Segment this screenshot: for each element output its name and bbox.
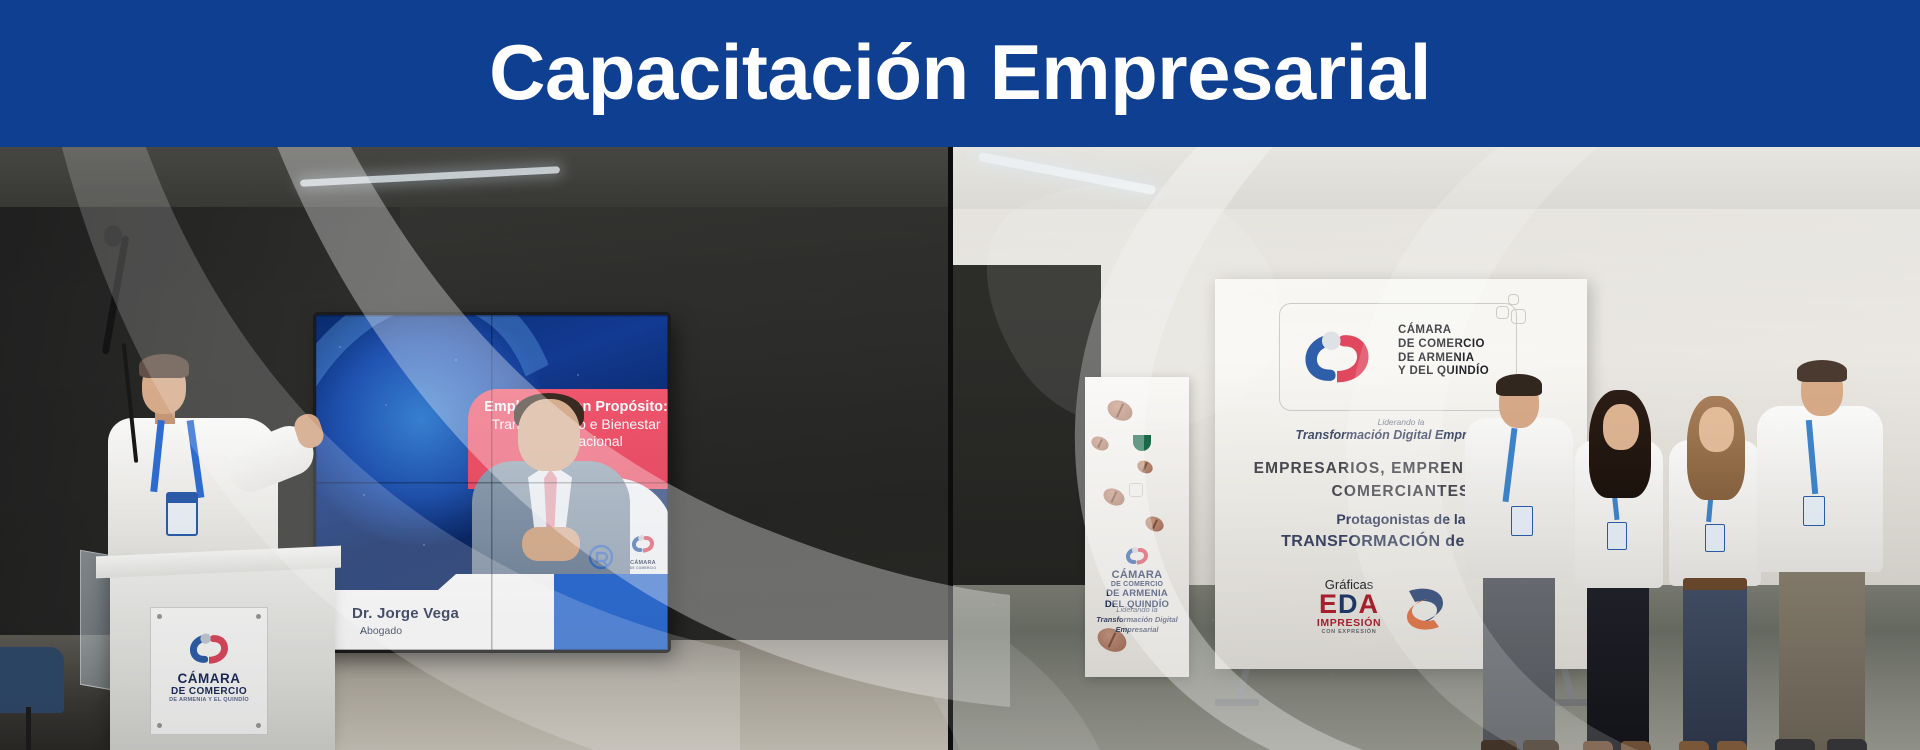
speaker-hair [139, 354, 189, 378]
rollup-small-tagline-main: Transformación Digital Empresarial [1085, 615, 1189, 635]
rollup-small-line2: DE COMERCIO [1085, 581, 1189, 588]
sponsor-line4: CON EXPRESIÓN [1295, 629, 1403, 635]
chair-leg [26, 707, 31, 750]
header-band: Capacitación Empresarial [0, 0, 1920, 147]
camara-comercio-mark-icon [1294, 326, 1380, 390]
person-2-shoe-right [1621, 741, 1651, 750]
photo-left-speaker: Empleados con Propósito: Transformando e… [0, 147, 948, 750]
person-2-head [1603, 404, 1639, 450]
person-4-shoe-left [1775, 739, 1815, 750]
person-3-legs [1683, 568, 1747, 750]
person-3-belt [1683, 578, 1747, 590]
person-4-hair [1797, 360, 1847, 382]
sponsor-logo: Gráficas EDA IMPRESIÓN CON EXPRESIÓN [1295, 577, 1475, 643]
leaf-shape-icon [1133, 435, 1151, 451]
person-1-shirt [1465, 418, 1573, 578]
rollup-banner-small: CÁMARA DE COMERCIO DE ARMENIA DEL QUINDÍ… [1085, 377, 1189, 677]
person-3-badge [1705, 524, 1725, 552]
podium-logo-line3: DE ARMENIA Y EL QUINDÍO [151, 697, 267, 703]
person-3-shoe-left [1679, 741, 1709, 750]
sponsor-line3: IMPRESIÓN [1295, 617, 1403, 629]
rollup-small-line3: DE ARMENIA [1085, 588, 1189, 599]
banner-foot-left [1215, 699, 1259, 706]
rollup-small-tagline: Liderando la Transformación Digital Empr… [1085, 605, 1189, 635]
microphone-head-icon [104, 225, 122, 247]
person-4-badge [1803, 496, 1825, 526]
rollup-small-tagline-small: Liderando la [1085, 605, 1189, 615]
eda-swirl-icon [1399, 581, 1451, 637]
page-title: Capacitación Empresarial [489, 33, 1431, 111]
rollup-small-line1: CÁMARA [1085, 569, 1189, 581]
podium-logo-line2: DE COMERCIO [151, 686, 267, 697]
person-2-badge [1607, 522, 1627, 550]
person-2-shoe-left [1583, 741, 1613, 750]
person-3-head [1699, 407, 1734, 452]
chair [0, 647, 64, 713]
promo-banner-page: Capacitación Empresarial Empleados con P… [0, 0, 1920, 750]
person-2 [1563, 300, 1673, 750]
person-4-legs [1779, 554, 1865, 750]
person-1-hair [1496, 374, 1542, 396]
photo-strip: Empleados con Propósito: Transformando e… [0, 147, 1920, 750]
photo-right-group: CÁMARA DE COMERCIO DE ARMENIA DEL QUINDÍ… [953, 147, 1920, 750]
person-1-legs [1483, 560, 1555, 750]
badge-strip [168, 494, 196, 503]
person-1-badge [1511, 506, 1533, 536]
camara-comercio-mark-icon [183, 630, 235, 668]
presentation-screen: Empleados con Propósito: Transformando e… [316, 315, 668, 650]
sponsor-line2: EDA [1295, 592, 1403, 617]
person-2-legs [1587, 570, 1649, 750]
person-1-shoe-right [1523, 740, 1559, 750]
person-1 [1459, 280, 1579, 750]
podium-logo-line1: CÁMARA [151, 671, 267, 686]
rollup-small-logo: CÁMARA DE COMERCIO DE ARMENIA DEL QUINDÍ… [1085, 545, 1189, 610]
podium-logo-plate: CÁMARA DE COMERCIO DE ARMENIA Y EL QUIND… [150, 607, 268, 735]
podium-logo: CÁMARA DE COMERCIO DE ARMENIA Y EL QUIND… [151, 630, 267, 703]
video-wall-bezel-grid [316, 315, 668, 650]
speaker-badge [166, 492, 198, 536]
person-1-shoe-left [1481, 740, 1517, 750]
person-4-shoe-right [1827, 739, 1867, 750]
person-4-shirt [1757, 406, 1883, 572]
person-4 [1753, 270, 1893, 750]
person-3-shoe-right [1717, 741, 1747, 750]
camara-comercio-mark-icon [1122, 545, 1152, 567]
node-square-icon [1129, 483, 1143, 497]
